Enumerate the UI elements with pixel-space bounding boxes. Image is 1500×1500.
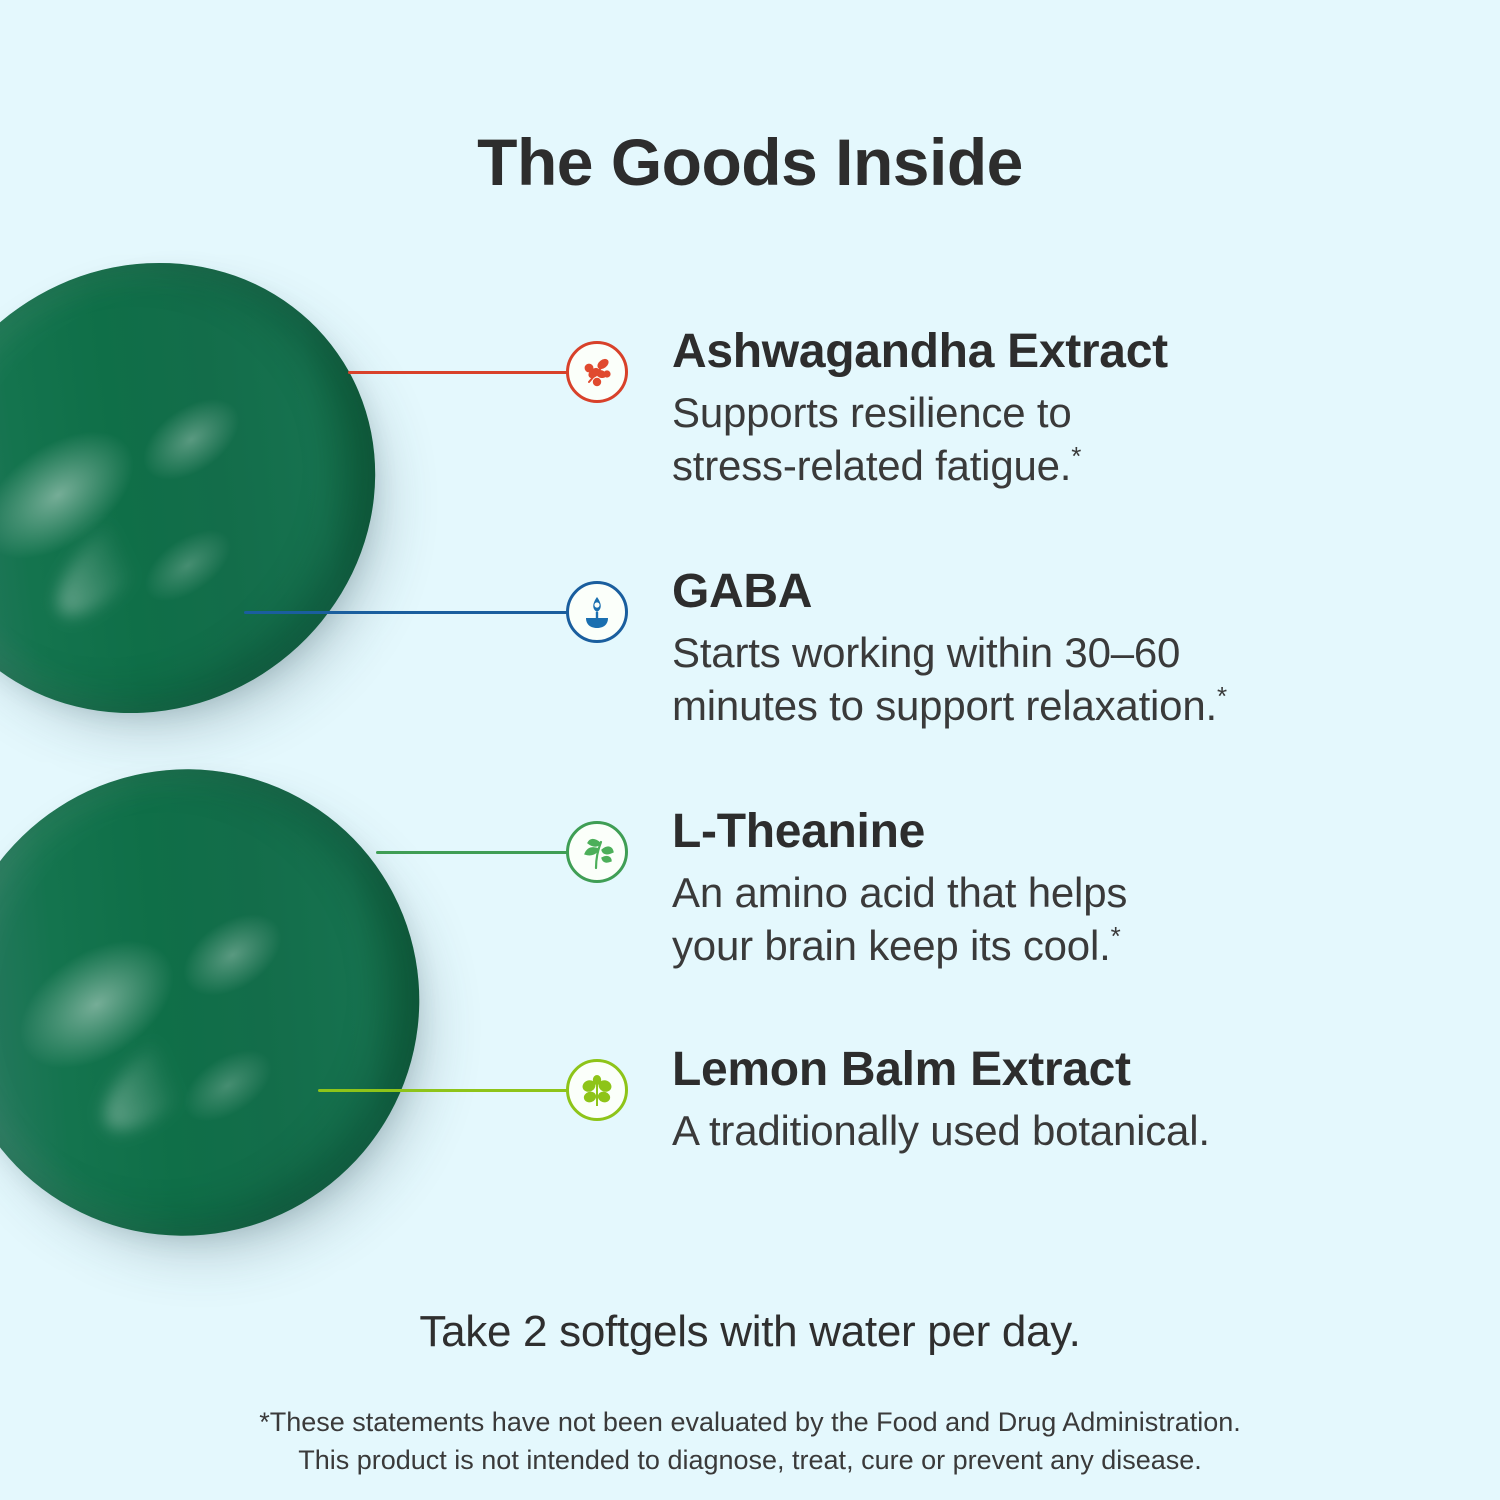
disclaimer-line-1: *These statements have not been evaluate… xyxy=(259,1407,1241,1437)
lotus-meditation-icon xyxy=(566,581,628,643)
ingredient-description-line1: Supports resilience to xyxy=(672,389,1071,436)
ingredient-text-block: L-Theanine An amino acid that helps your… xyxy=(672,807,1492,972)
softgel-rim xyxy=(0,680,509,1326)
ingredient-description-line2: minutes to support relaxation. xyxy=(672,682,1217,729)
fda-disclaimer: *These statements have not been evaluate… xyxy=(0,1404,1500,1480)
ingredient-text-block: Ashwagandha Extract Supports resilience … xyxy=(672,327,1492,492)
softgel-rim xyxy=(0,173,464,803)
ingredient-text-block: GABA Starts working within 30–60 minutes… xyxy=(672,567,1492,732)
dosage-instruction: Take 2 softgels with water per day. xyxy=(0,1307,1500,1357)
ingredient-description: Supports resilience to stress-related fa… xyxy=(672,387,1492,492)
ingredient-text-block: Lemon Balm Extract A traditionally used … xyxy=(672,1045,1492,1158)
softgel-highlight xyxy=(89,1001,240,1148)
ingredient-description-line1: Starts working within 30–60 xyxy=(672,629,1180,676)
disclaimer-line-2: This product is not intended to diagnose… xyxy=(298,1445,1202,1475)
ingredient-description-line1: A traditionally used botanical. xyxy=(672,1107,1210,1154)
softgel-capsule-top xyxy=(0,173,464,803)
ingredient-name: Ashwagandha Extract xyxy=(672,327,1492,377)
footnote-asterisk: * xyxy=(1071,441,1081,471)
footnote-asterisk: * xyxy=(1217,681,1227,711)
footnote-asterisk: * xyxy=(1111,921,1121,951)
lemon-balm-leaf-icon xyxy=(566,1059,628,1121)
connector-line-ltheanine xyxy=(376,851,580,854)
page-title: The Goods Inside xyxy=(0,124,1500,200)
connector-line-ashwagandha xyxy=(348,371,580,374)
ingredient-description: An amino acid that helps your brain keep… xyxy=(672,867,1492,972)
softgel-highlight xyxy=(41,476,192,632)
ingredient-description-line2: stress-related fatigue. xyxy=(672,442,1071,489)
ingredient-description-line1: An amino acid that helps xyxy=(672,869,1127,916)
ingredient-name: GABA xyxy=(672,567,1492,617)
tea-leaf-sprig-icon xyxy=(566,821,628,883)
connector-line-lemonbalm xyxy=(318,1089,580,1092)
ingredient-name: L-Theanine xyxy=(672,807,1492,857)
ingredient-name: Lemon Balm Extract xyxy=(672,1045,1492,1095)
ingredient-description: Starts working within 30–60 minutes to s… xyxy=(672,627,1492,732)
ingredient-description: A traditionally used botanical. xyxy=(672,1105,1492,1158)
ashwagandha-berry-branch-icon xyxy=(566,341,628,403)
ingredient-description-line2: your brain keep its cool. xyxy=(672,922,1111,969)
softgel-capsule-bottom xyxy=(0,680,509,1326)
infographic-canvas: The Goods Inside xyxy=(0,0,1500,1500)
connector-line-gaba xyxy=(244,611,580,614)
